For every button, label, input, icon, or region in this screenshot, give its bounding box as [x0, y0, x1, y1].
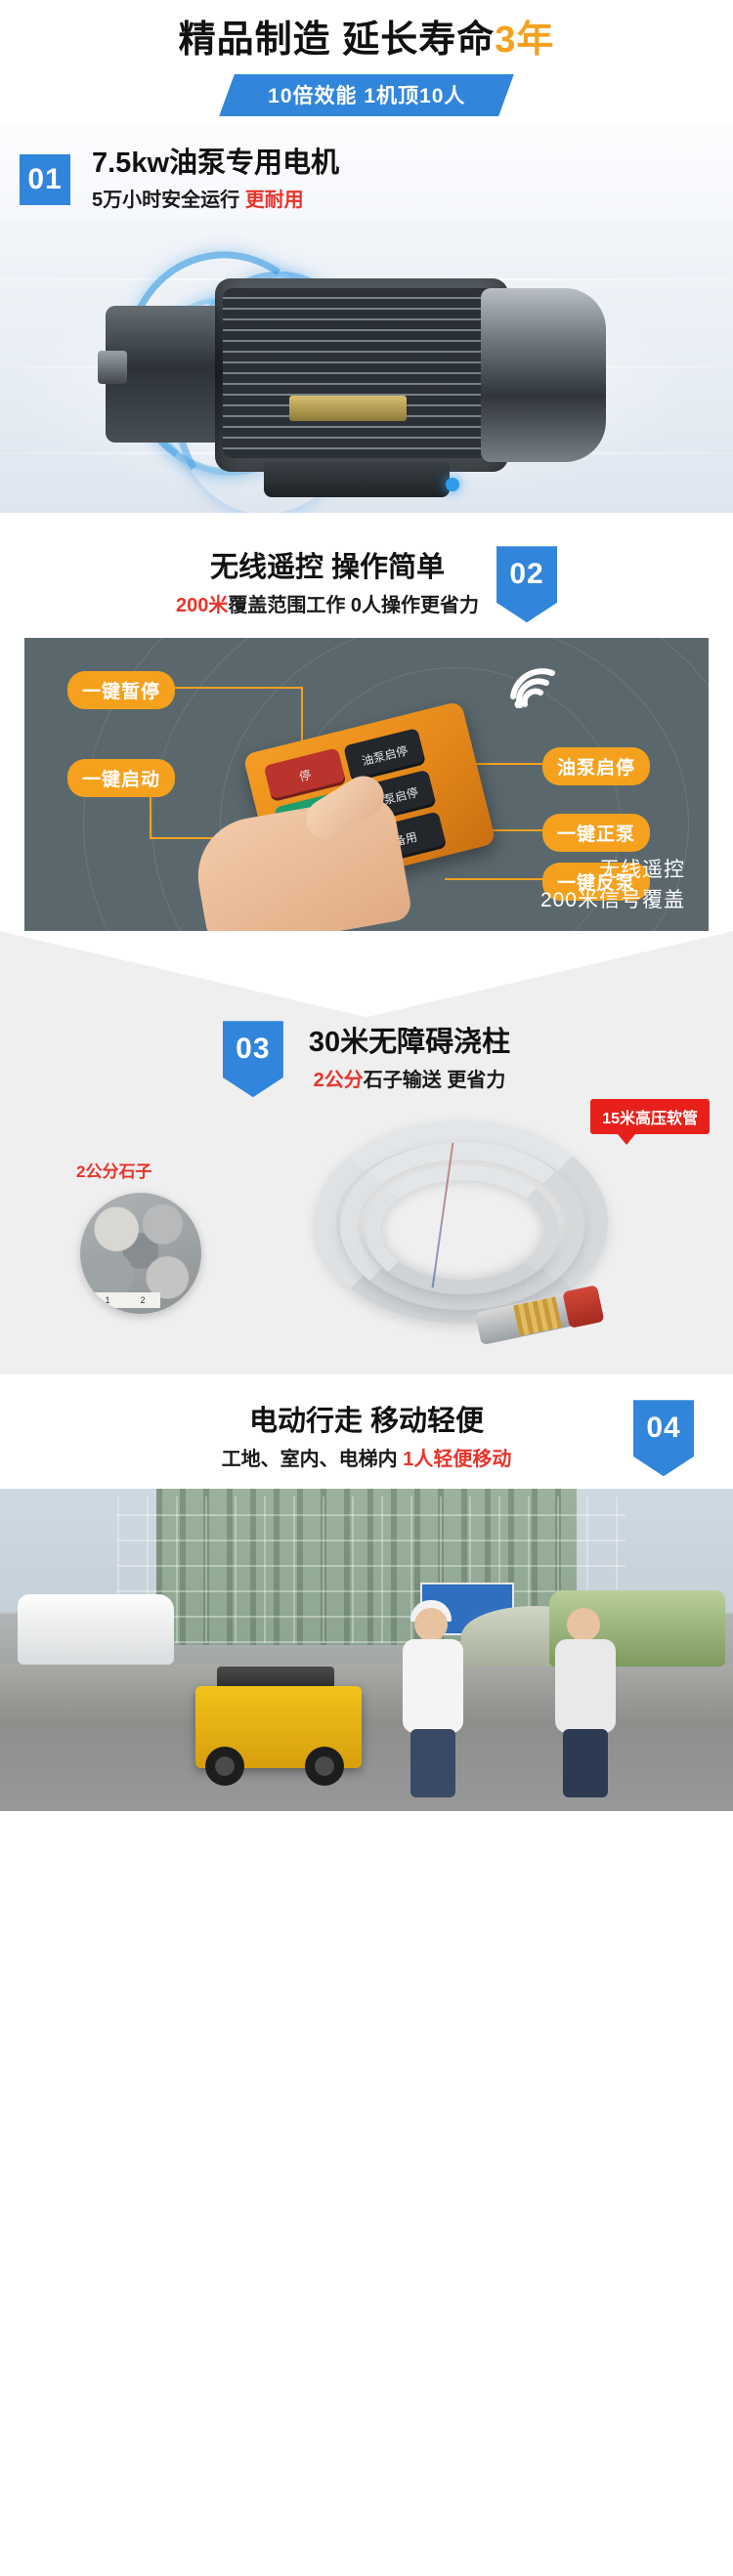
section-02-subtitle-normal: 覆盖范围工作 0人操作更省力 [228, 595, 479, 616]
motor-base [264, 462, 450, 497]
motor-illustration [98, 271, 611, 481]
worker-torso [555, 1639, 616, 1733]
machine-wheel [305, 1747, 344, 1786]
header-ribbon-wrap: 10倍效能 1机顶10人 [0, 74, 733, 116]
section-01-photo [0, 220, 733, 513]
worker-operator [395, 1608, 471, 1794]
section-01-badge: 01 [20, 154, 70, 205]
section-02: 无线遥控 操作简单 200米覆盖范围工作 0人操作更省力 02 [0, 513, 733, 931]
motor-body [215, 278, 508, 472]
section-04-subtitle: 工地、室内、电梯内 1人轻便移动 [0, 1446, 733, 1473]
worker-legs [410, 1729, 455, 1797]
section-03-subtitle-red: 2公分 [314, 1070, 364, 1091]
worker-legs [563, 1729, 608, 1797]
coupler-red-cap [562, 1285, 604, 1329]
callout-forward-pump: 一键正泵 [542, 814, 650, 852]
motor-indicator-light [446, 478, 459, 491]
white-van [18, 1594, 174, 1665]
stone-size-label: 2公分石子 [76, 1158, 151, 1182]
section-02-title: 无线遥控 操作简单 [176, 550, 479, 587]
worker-head [567, 1608, 600, 1641]
section-04-subtitle-normal: 工地、室内、电梯内 [222, 1449, 404, 1470]
page-header: 精品制造 延长寿命3年 10倍效能 1机顶10人 [0, 0, 733, 124]
page-title-highlight: 3年 [495, 20, 554, 61]
section-02-caption-line2: 200米信号覆盖 [540, 886, 685, 915]
section-04-subtitle-red: 1人轻便移动 [403, 1449, 511, 1470]
section-02-subtitle-red: 200米 [176, 595, 228, 616]
concrete-pump-machine [195, 1668, 381, 1786]
section-03-title: 30米无障碍浇柱 [309, 1025, 510, 1062]
ruler-mark-2: 2 [140, 1295, 145, 1305]
motor-nameplate [289, 396, 407, 421]
motor-cooling-fins [223, 288, 500, 458]
section-02-header: 无线遥控 操作简单 200米覆盖范围工作 0人操作更省力 02 [0, 546, 733, 622]
section-04-header: 电动行走 移动轻便 工地、室内、电梯内 1人轻便移动 04 [0, 1404, 733, 1473]
section-03-badge: 03 [223, 1021, 283, 1097]
header-ribbon-label: 10倍效能 1机顶10人 [268, 80, 465, 109]
section-04-title: 电动行走 移动轻便 [0, 1404, 733, 1441]
section-02-photo: 一键暂停 一键启动 油泵启停 一键正泵 一键反泵 停 油泵启停 启动 正泵启停 … [24, 638, 709, 931]
worker-torso [403, 1639, 463, 1733]
section-03-subtitle: 2公分石子输送 更省力 [309, 1067, 510, 1094]
section-02-subtitle: 200米覆盖范围工作 0人操作更省力 [176, 592, 479, 619]
section-01-header: 01 7.5kw油泵专用电机 5万小时安全运行 更耐用 [0, 146, 733, 215]
callout-leader-line [445, 878, 550, 880]
wifi-icon [509, 663, 564, 708]
section-01-subtitle-red: 更耐用 [245, 190, 304, 211]
page-title: 精品制造 延长寿命3年 [0, 18, 733, 64]
section-03-photo: 15米高压软管 2公分石子 1 2 [0, 1107, 733, 1351]
ruler-mark-1: 1 [105, 1295, 109, 1305]
section-02-caption-line1: 无线遥控 [540, 856, 685, 885]
callout-pump-toggle: 油泵启停 [542, 747, 650, 785]
section-04: 电动行走 移动轻便 工地、室内、电梯内 1人轻便移动 04 [0, 1374, 733, 1811]
section-03-header: 03 30米无障碍浇柱 2公分石子输送 更省力 [0, 1017, 733, 1097]
page-title-main: 精品制造 延长寿命 [179, 20, 496, 61]
motor-front-cover [481, 288, 606, 462]
hose-coil [366, 1165, 559, 1294]
section-divider-chevron [0, 931, 733, 1017]
callout-pause: 一键暂停 [67, 671, 175, 709]
section-01-title: 7.5kw油泵专用电机 [92, 146, 339, 183]
worker-head [414, 1608, 448, 1641]
section-01-subtitle: 5万小时安全运行 更耐用 [92, 187, 339, 214]
worker-bystander [547, 1608, 624, 1794]
header-ribbon: 10倍效能 1机顶10人 [219, 74, 514, 116]
high-pressure-hose [293, 1113, 645, 1347]
section-04-photo [0, 1489, 733, 1811]
callout-start: 一键启动 [67, 759, 175, 797]
coupler-brass-ring [513, 1297, 562, 1336]
callout-leader-line [150, 794, 151, 839]
ruler: 1 2 [90, 1292, 160, 1308]
section-03: 03 30米无障碍浇柱 2公分石子输送 更省力 15米高压软管 2公分石子 [0, 931, 733, 1374]
product-detail-page: 精品制造 延长寿命3年 10倍效能 1机顶10人 01 7.5kw油泵专用电机 … [0, 0, 733, 1811]
machine-wheel [205, 1747, 244, 1786]
section-01: 01 7.5kw油泵专用电机 5万小时安全运行 更耐用 [0, 124, 733, 514]
motor-shaft [98, 351, 127, 384]
section-01-subtitle-normal: 5万小时安全运行 [92, 190, 245, 211]
section-03-subtitle-normal: 石子输送 更省力 [364, 1070, 506, 1091]
gravel-photo: 1 2 [80, 1193, 201, 1314]
section-02-caption: 无线遥控 200米信号覆盖 [540, 856, 685, 915]
section-02-badge: 02 [496, 546, 557, 622]
